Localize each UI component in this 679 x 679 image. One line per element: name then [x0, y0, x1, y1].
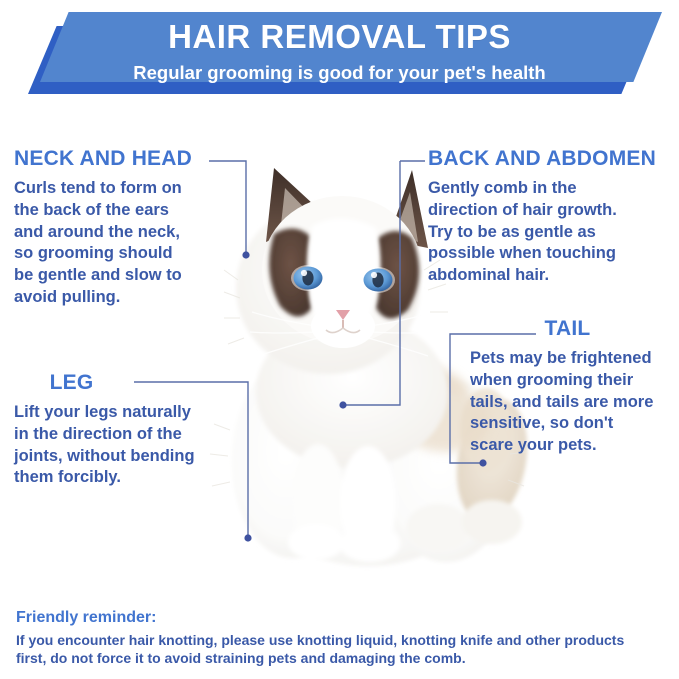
callout-neck-and-head-body: Curls tend to form on the back of the ea… [14, 178, 229, 309]
callout-back-and-abdomen: BACK AND ABDOMEN Gently comb in the dire… [428, 148, 673, 287]
callout-back-and-abdomen-title: BACK AND ABDOMEN [428, 148, 673, 169]
callout-back-and-abdomen-body: Gently comb in the direction of hair gro… [428, 178, 673, 287]
footer-note: Friendly reminder: If you encounter hair… [16, 608, 666, 668]
callout-leg-body: Lift your legs naturally in the directio… [14, 402, 234, 489]
callout-leg-title: LEG [14, 372, 129, 393]
callout-tail-title: TAIL [470, 318, 665, 339]
callout-leg: LEG Lift your legs naturally in the dire… [14, 372, 234, 489]
header-banner: HAIR REMOVAL TIPS Regular grooming is go… [0, 12, 679, 96]
callout-neck-and-head: NECK AND HEAD Curls tend to form on the … [14, 148, 229, 309]
callout-tail: TAIL Pets may be frightened when groomin… [470, 318, 675, 457]
infographic-page: HAIR REMOVAL TIPS Regular grooming is go… [0, 0, 679, 679]
footer-body: If you encounter hair knotting, please u… [16, 631, 666, 668]
callout-neck-and-head-title: NECK AND HEAD [14, 148, 229, 169]
banner-main-shape [40, 12, 662, 82]
footer-title: Friendly reminder: [16, 608, 666, 628]
cat-nose-muzzle [311, 304, 375, 348]
callout-tail-body: Pets may be frightened when grooming the… [470, 348, 675, 457]
